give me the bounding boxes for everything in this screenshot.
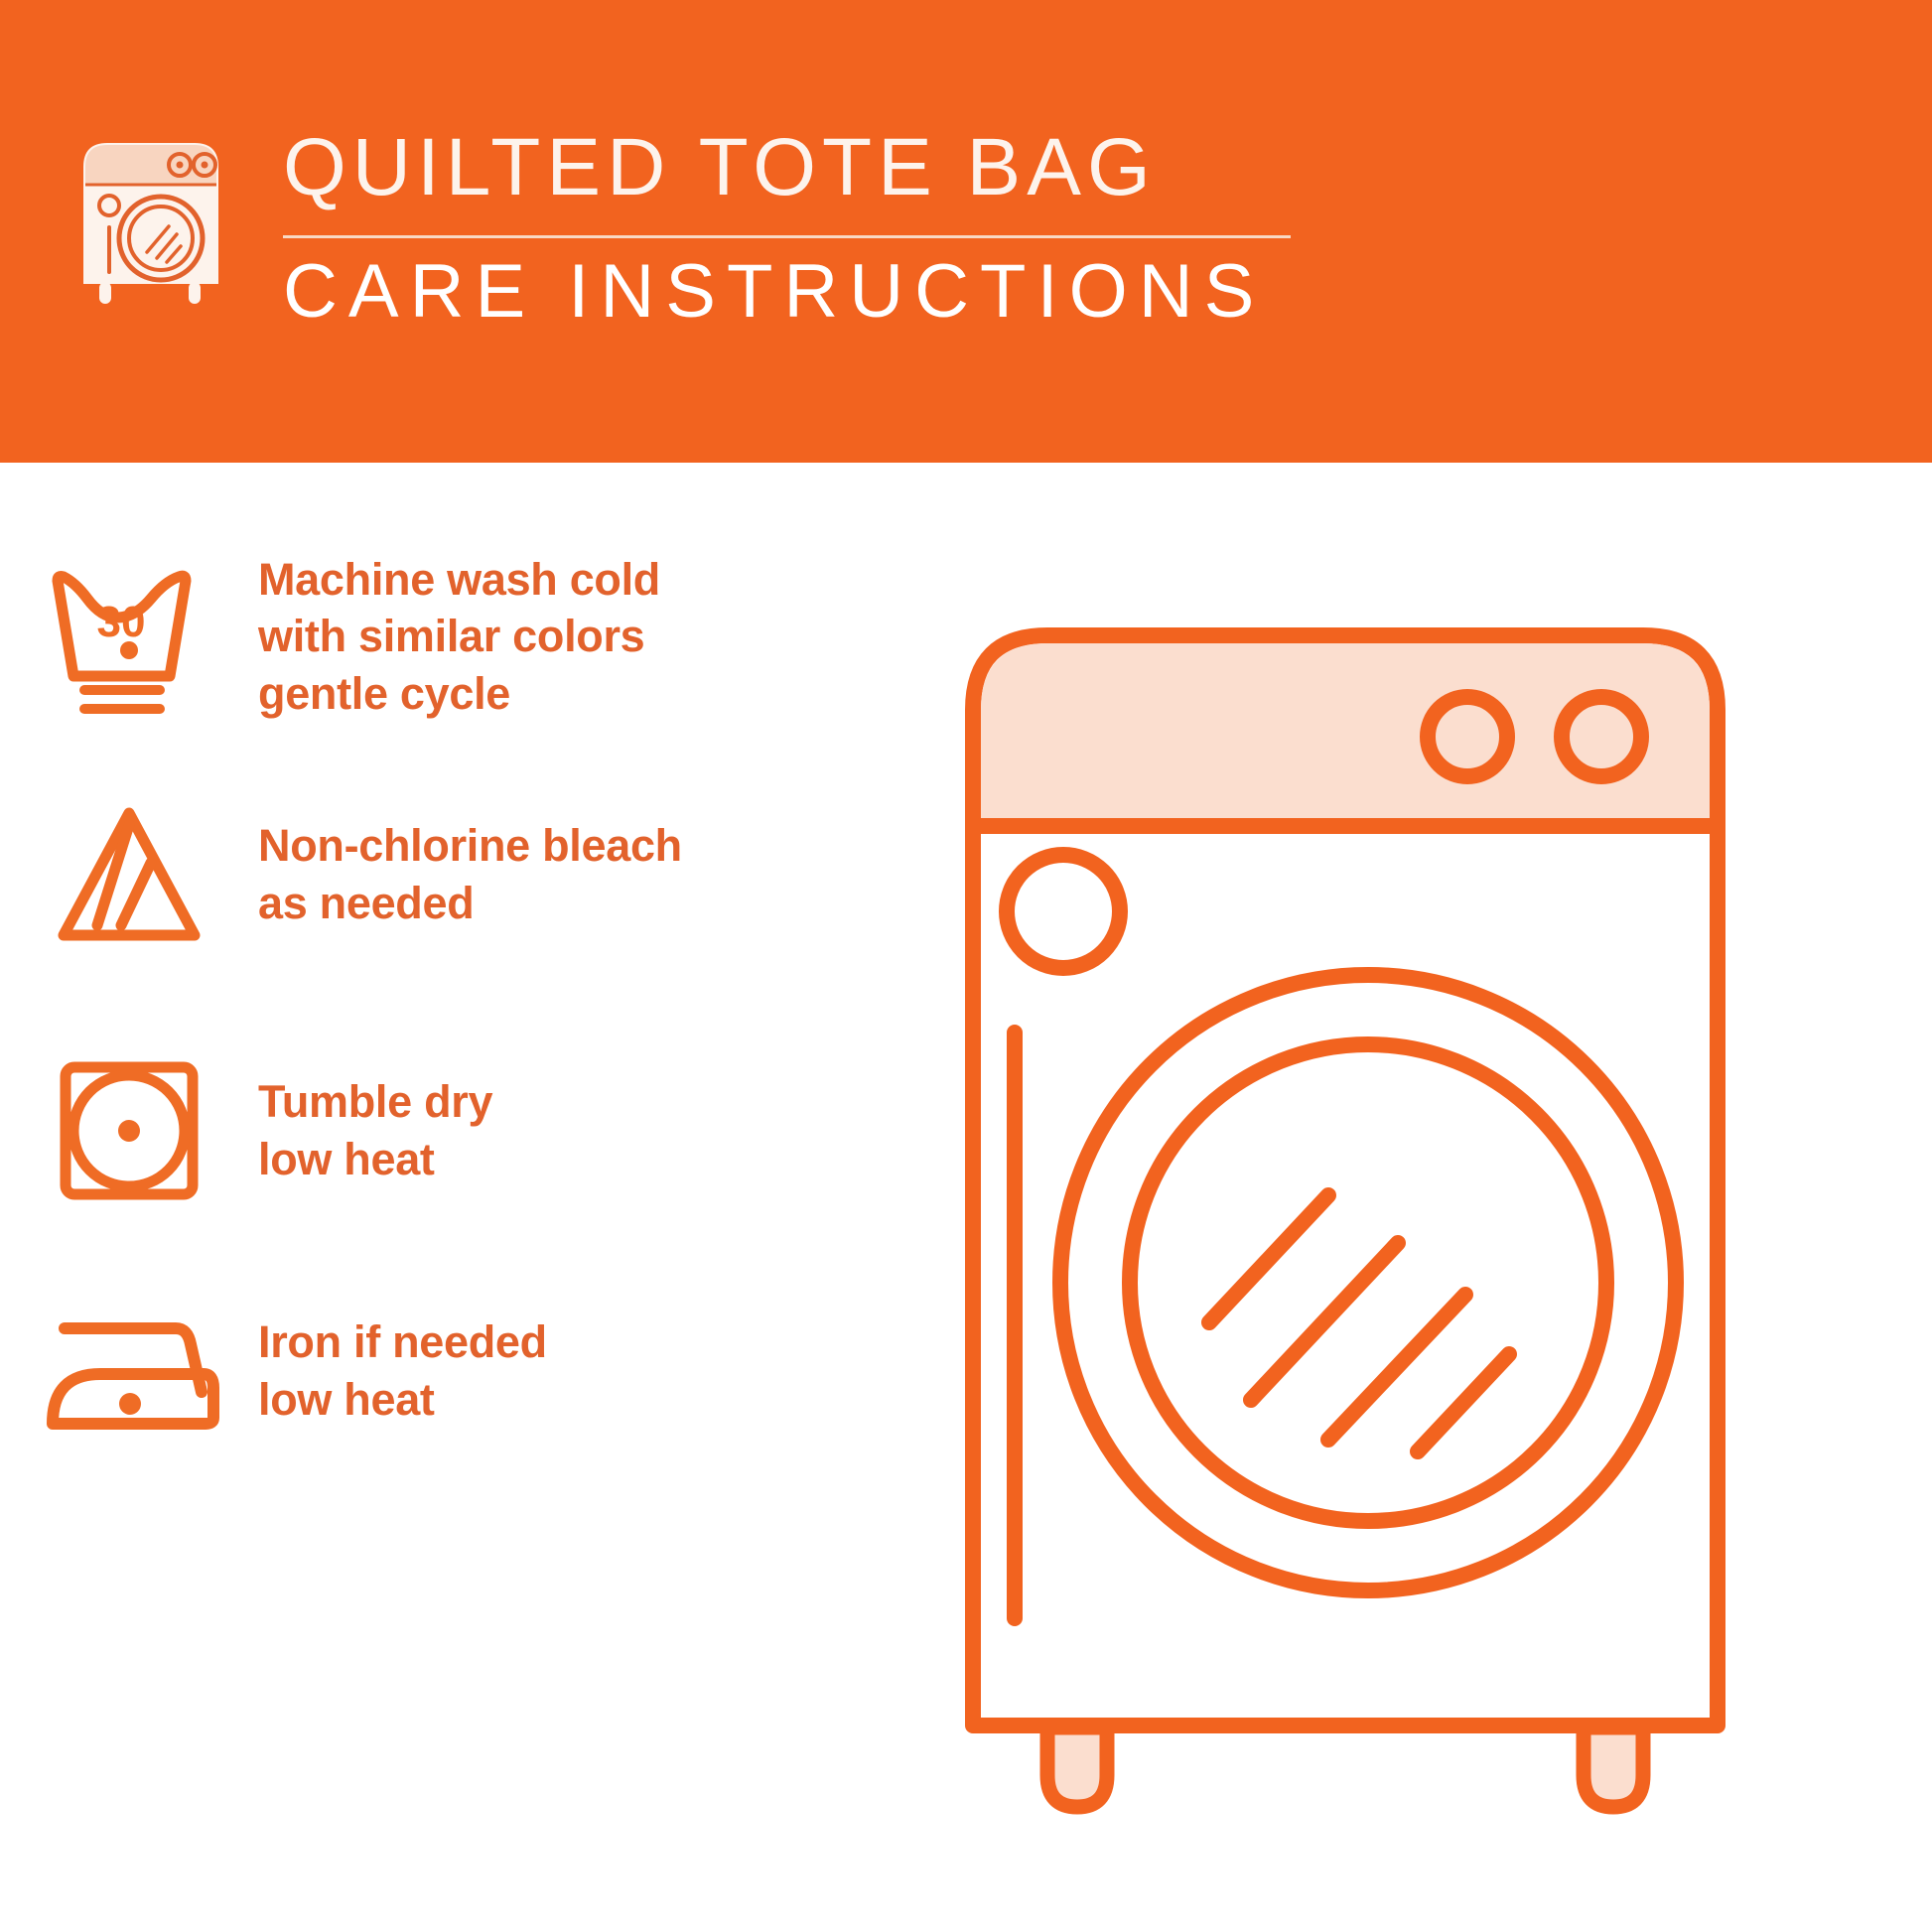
svg-text:30: 30	[97, 598, 146, 646]
care-label-machine-wash: Machine wash cold with similar colors ge…	[258, 551, 660, 723]
title-divider	[283, 235, 1291, 238]
washer-legs	[1047, 1727, 1643, 1807]
care-row-bleach: Non-chlorine bleach as needed	[0, 760, 874, 989]
washing-machine-logo-icon	[77, 133, 224, 312]
washer-knob-left	[1428, 697, 1507, 776]
wash-tub-30-gentle-icon: 30	[0, 555, 258, 719]
page-subtitle: CARE INSTRUCTIONS	[283, 250, 1335, 334]
care-label-bleach: Non-chlorine bleach as needed	[258, 817, 682, 931]
header-text-block: QUILTED TOTE BAG CARE INSTRUCTIONS	[283, 127, 1335, 334]
care-row-iron: Iron if needed low heat	[0, 1257, 874, 1485]
care-row-tumble-dry: Tumble dry low heat	[0, 1017, 874, 1245]
care-instructions-list: 30 Machine wash cold with similar colors…	[0, 463, 874, 1932]
tumble-dry-low-heat-icon	[0, 1051, 258, 1210]
washer-knob-right	[1562, 697, 1641, 776]
washing-machine-illustration	[953, 616, 1737, 1866]
page-title: QUILTED TOTE BAG	[283, 127, 1335, 208]
non-chlorine-bleach-triangle-icon	[0, 795, 258, 954]
care-label-iron: Iron if needed low heat	[258, 1313, 547, 1428]
care-label-tumble-dry: Tumble dry low heat	[258, 1073, 492, 1187]
care-row-machine-wash: 30 Machine wash cold with similar colors…	[0, 522, 874, 751]
page-header: QUILTED TOTE BAG CARE INSTRUCTIONS	[0, 0, 1932, 463]
iron-low-heat-icon	[0, 1297, 258, 1446]
